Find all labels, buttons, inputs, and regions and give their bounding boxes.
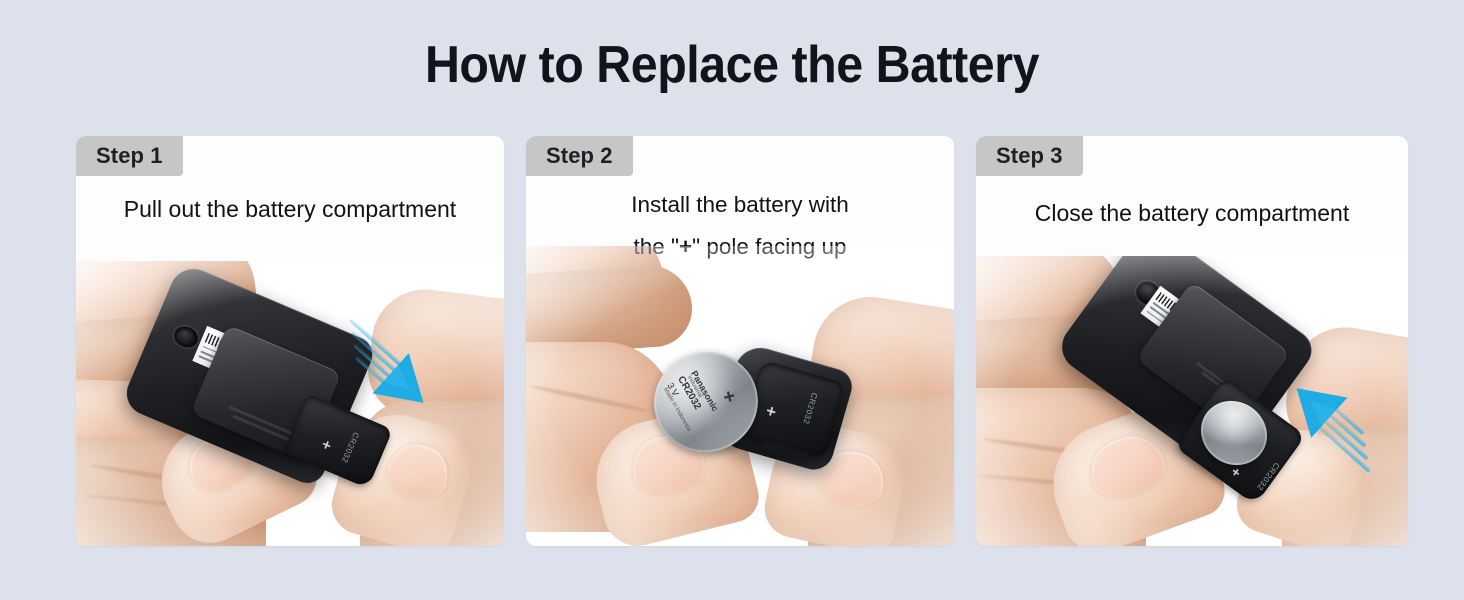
- step-badge-1: Step 1: [76, 136, 183, 176]
- caption-line-2: the "+" pole facing up: [536, 226, 944, 268]
- direction-arrow-1: [322, 315, 452, 425]
- caption-post: " pole facing up: [692, 234, 846, 259]
- step-caption-3: Close the battery compartment: [976, 194, 1408, 232]
- step-card-1: Step 1 Pull out the battery compartment: [76, 136, 504, 546]
- page-title: How to Replace the Battery: [51, 34, 1413, 96]
- step-photo-3: + CR2032: [976, 256, 1408, 546]
- step-photo-2: + CR2032 Panasonic CR2032 3 V Industrial…: [526, 246, 954, 546]
- caption-line-1: Install the battery with: [536, 184, 944, 226]
- direction-arrow-3: [1268, 366, 1398, 476]
- step-card-2: Step 2 Install the battery with the "+" …: [526, 136, 954, 546]
- caption-pre: the ": [633, 234, 679, 259]
- step-caption-1: Pull out the battery compartment: [76, 190, 504, 228]
- step-photo-1: + CR2032: [76, 261, 504, 546]
- step-caption-2: Install the battery with the "+" pole fa…: [526, 184, 954, 268]
- step-badge-2: Step 2: [526, 136, 633, 176]
- steps-container: Step 1 Pull out the battery compartment: [76, 136, 1388, 546]
- plus-symbol: +: [679, 234, 692, 259]
- step-badge-3: Step 3: [976, 136, 1083, 176]
- instruction-infographic: How to Replace the Battery Step 1 Pull o…: [0, 0, 1464, 600]
- step-card-3: Step 3 Close the battery compartment: [976, 136, 1408, 546]
